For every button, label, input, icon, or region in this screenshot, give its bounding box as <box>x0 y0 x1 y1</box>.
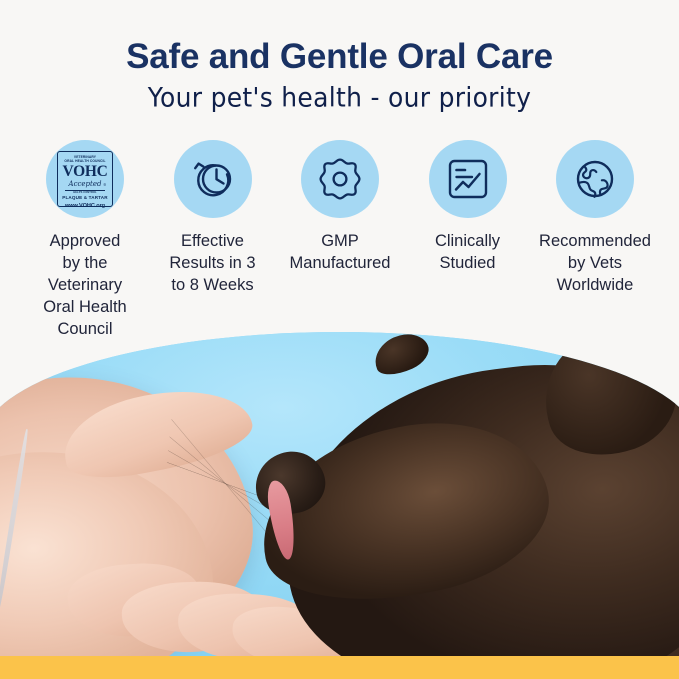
badge-label: Recommended by Vets Worldwide <box>539 231 651 297</box>
clock-rotate-icon <box>188 154 238 204</box>
vohc-accepted-text: Accepted <box>69 181 102 188</box>
vohc-acronym: VOHC <box>63 164 108 180</box>
photo-rounded-mask <box>0 332 679 657</box>
hand-offering-dental-chew-to-dog-photo <box>0 332 679 657</box>
gear-icon <box>316 155 364 203</box>
badge-label: Effective Results in 3 to 8 Weeks <box>169 231 255 297</box>
benefit-badge-vohc-approved: VETERINARY ORAL HEALTH COUNCIL VOHC Acce… <box>26 140 144 341</box>
vohc-seal-content: VETERINARY ORAL HEALTH COUNCIL VOHC Acce… <box>62 155 107 209</box>
badge-circle <box>556 140 634 218</box>
page-title: Safe and Gentle Oral Care <box>0 38 679 77</box>
chart-report-icon <box>445 156 491 202</box>
badge-label: Clinically Studied <box>435 231 500 275</box>
vohc-seal-icon: VETERINARY ORAL HEALTH COUNCIL VOHC Acce… <box>57 151 113 207</box>
page-subtitle: Your pet's health - our priority <box>0 82 679 112</box>
vohc-sub2: PLAQUE & TARTAR <box>62 195 107 201</box>
vohc-url: www.VOHC.org <box>65 203 105 209</box>
badge-label: GMP Manufactured <box>290 231 391 275</box>
globe-icon <box>571 155 619 203</box>
badge-label: Approved by the Veterinary Oral Health C… <box>43 231 126 341</box>
badge-circle <box>301 140 379 218</box>
badge-circle: VETERINARY ORAL HEALTH COUNCIL VOHC Acce… <box>46 140 124 218</box>
benefit-badge-row: VETERINARY ORAL HEALTH COUNCIL VOHC Acce… <box>26 140 654 341</box>
benefit-badge-gmp-manufactured: GMP Manufactured <box>281 140 399 275</box>
benefit-badge-clinically-studied: Clinically Studied <box>409 140 527 275</box>
benefit-badge-recommended-by-vets: Recommended by Vets Worldwide <box>536 140 654 297</box>
badge-circle <box>429 140 507 218</box>
product-infographic-page: Safe and Gentle Oral Care Your pet's hea… <box>0 0 679 679</box>
badge-circle <box>174 140 252 218</box>
bottom-accent-bar <box>0 656 679 679</box>
benefit-badge-effective-results: Effective Results in 3 to 8 Weeks <box>154 140 272 297</box>
